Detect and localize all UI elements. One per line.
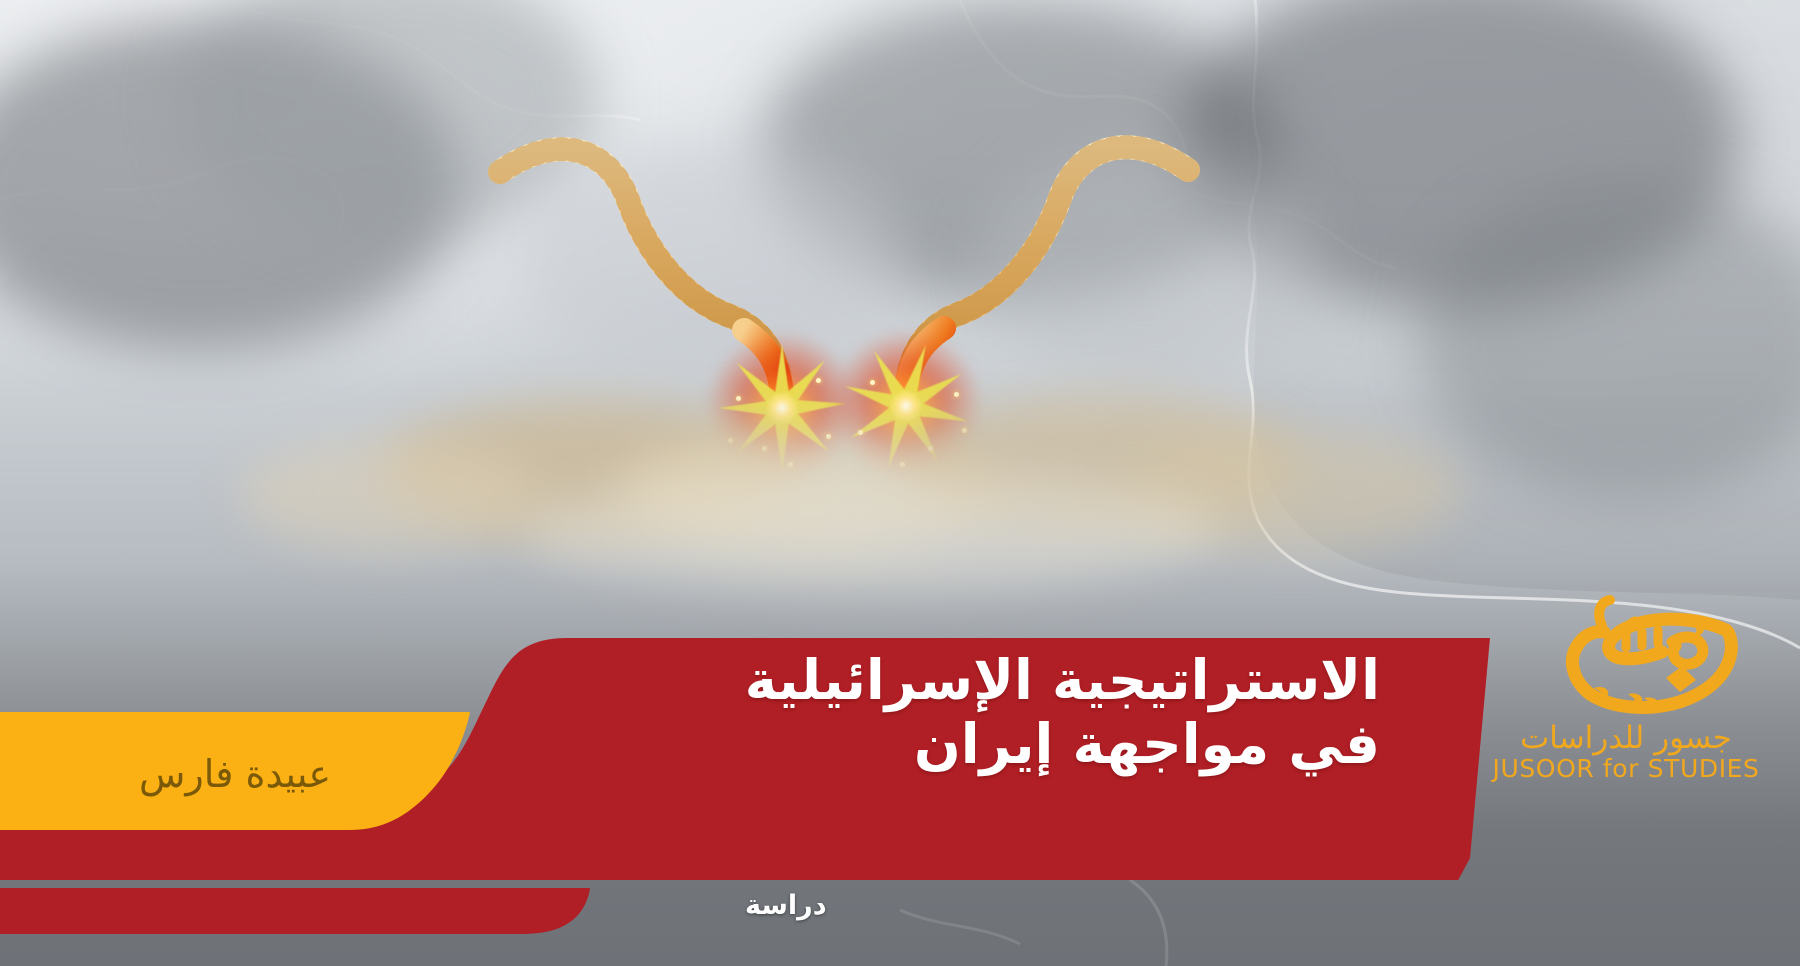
jusoor-wordmark-icon <box>1476 586 1776 726</box>
author-name: عبيدة فارس <box>0 712 470 836</box>
page-title: الاستراتيجية الإسرائيلية في مواجهة إيران <box>420 648 1380 777</box>
document-type-label: دراسة <box>745 890 827 921</box>
logo-name-english: JUSOOR for STUDIES <box>1476 755 1776 784</box>
cover-image: عبيدة فارس الاستراتيجية الإسرائيلية في م… <box>0 0 1800 966</box>
ground-dust <box>240 440 540 550</box>
logo-name-arabic: جسور للدراسات <box>1476 722 1776 755</box>
title-line-1: الاستراتيجية الإسرائيلية <box>420 648 1380 712</box>
title-line-2: في مواجهة إيران <box>420 712 1380 776</box>
ground-dust <box>520 470 1220 590</box>
jusoor-logo[interactable]: جسور للدراسات JUSOOR for STUDIES <box>1476 586 1776 786</box>
bottom-red-bar <box>0 888 1800 966</box>
